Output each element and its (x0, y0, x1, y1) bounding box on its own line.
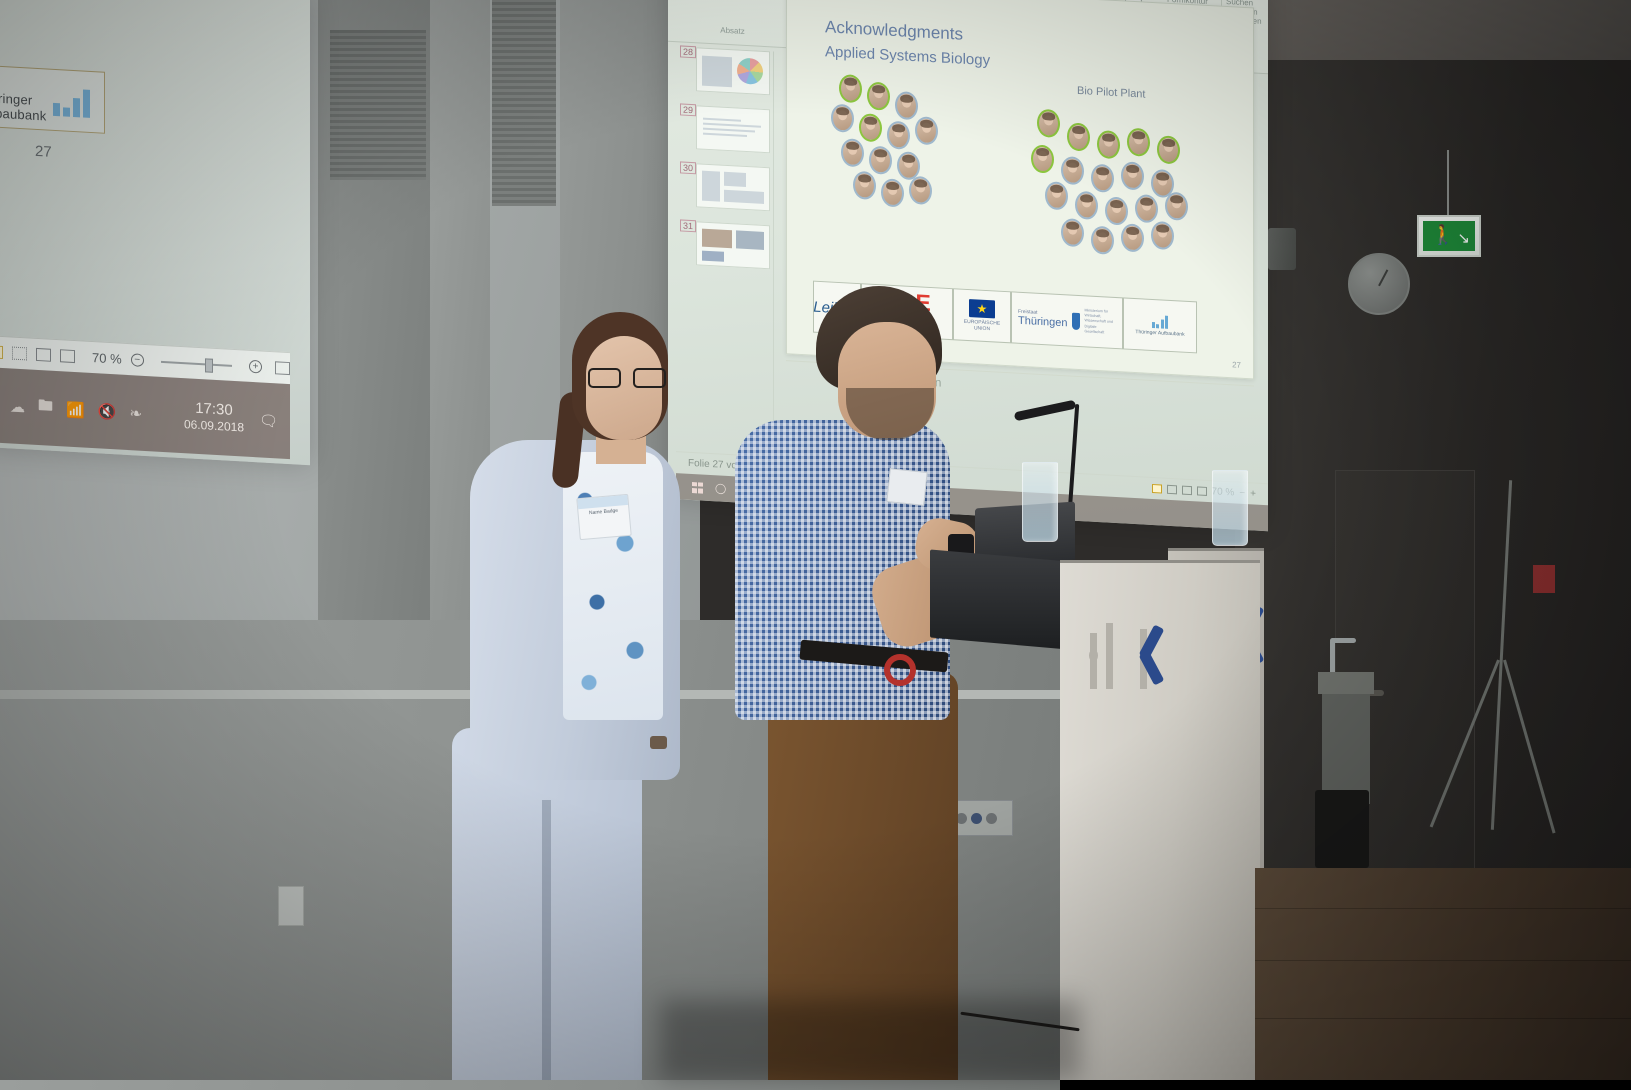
ceiling-vent-grille (330, 30, 426, 180)
slide-title: Acknowledgments (825, 17, 963, 44)
thumb-logo (702, 251, 724, 262)
reading-view-icon[interactable] (36, 348, 51, 362)
floor-plank-line (1255, 908, 1631, 909)
sink-basin (1322, 694, 1370, 804)
team-photo (1061, 218, 1084, 247)
socket-icon (971, 813, 982, 824)
thumbnail-number: 31 (680, 219, 696, 232)
left-projection-screen: Thüringer Aufbaubank 27 70 % − + ^ ☁ 🖿 📶… (0, 0, 310, 465)
tab-logo-text: Thüringer Aufbaubank (0, 89, 104, 126)
team-photo (1091, 164, 1114, 193)
team-photo (1151, 221, 1174, 250)
emergency-exit-sign: 🚶 ↘ (1417, 215, 1481, 257)
team-photo (853, 171, 876, 200)
thumbnail-number: 28 (680, 45, 696, 58)
team-photo (867, 82, 890, 111)
logo-dot (1089, 649, 1098, 662)
water-glass-left (1022, 462, 1058, 542)
faucet-body (1330, 640, 1335, 674)
logo-european-union: EUROPÄISCHE UNION (953, 288, 1011, 343)
search-icon[interactable]: ◯ (715, 483, 726, 495)
zoom-in-button[interactable]: + (1250, 488, 1256, 499)
wall-vent-grille (492, 0, 556, 206)
slide-sorter-icon[interactable] (12, 347, 27, 361)
slide-thumbnail[interactable]: 29 (696, 105, 770, 153)
normal-view-icon[interactable] (1152, 484, 1162, 494)
fire-extinguisher-sign (1533, 565, 1555, 593)
slide-thumbnail[interactable]: 28 (696, 47, 770, 95)
thumb-pie-chart-icon (737, 57, 763, 84)
woman-wristwatch (650, 736, 667, 749)
faces-cluster-applied-systems-biology (831, 74, 1011, 274)
thumb-image-placeholder (702, 56, 732, 88)
team-photo (895, 91, 918, 120)
faces-cluster-bio-pilot-plant (1027, 100, 1227, 301)
thumb-diagram-box (724, 190, 764, 204)
exit-sign-green-face: 🚶 ↘ (1423, 221, 1475, 251)
clock-date: 06.09.2018 (184, 418, 244, 436)
team-photo (831, 104, 854, 133)
exit-arrow-icon: ↘ (1457, 229, 1470, 247)
laptop-keyboard-base[interactable] (930, 549, 1080, 650)
thumb-photo (702, 229, 732, 249)
team-photo (869, 146, 892, 175)
man-belt-buckle (884, 654, 916, 686)
floor-plank-line (1255, 1018, 1631, 1019)
slide-sorter-icon[interactable] (1167, 485, 1177, 495)
tab-logo-box: Thüringer Aufbaubank (0, 64, 105, 134)
logo-freistaat-thueringen: Freistaat Thüringen Ministerium für Wirt… (1011, 291, 1123, 349)
wall-clock (1348, 253, 1410, 315)
slideshow-icon[interactable] (1197, 486, 1207, 496)
woman-eyeglasses (588, 368, 666, 388)
floor-plank-line (1255, 960, 1631, 961)
slide-thumbnail[interactable]: 31 (696, 221, 770, 269)
normal-view-icon[interactable] (0, 345, 3, 359)
zoom-slider[interactable] (161, 360, 232, 366)
team-photo (1075, 191, 1098, 220)
team-photo (915, 116, 938, 145)
slide-subtitle: Applied Systems Biology (825, 43, 990, 69)
conference-room-scene: Thüringer Aufbaubank 27 70 % − + ^ ☁ 🖿 📶… (0, 0, 1631, 1080)
thuringia-coat-of-arms-icon (1072, 312, 1081, 329)
lectern (1060, 560, 1260, 1080)
volume-muted-icon[interactable]: 🔇 (98, 402, 117, 421)
wifi-icon[interactable]: 📶 (66, 400, 85, 419)
left-slide-page-number: 27 (35, 143, 52, 161)
ribbon-group-label: Absatz (674, 23, 791, 38)
slide-thumbnail[interactable]: 30 (696, 163, 770, 211)
hki-logo (1090, 619, 1176, 689)
floor-shadow (660, 1000, 1080, 1080)
team-photo (1127, 128, 1150, 157)
team-photo (881, 178, 904, 207)
team-photo (1091, 226, 1114, 255)
bio-pilot-plant-caption: Bio Pilot Plant (1077, 85, 1145, 101)
thumb-photo (736, 230, 764, 250)
trash-bin (1315, 790, 1369, 868)
eu-caption: EUROPÄISCHE UNION (960, 319, 1004, 333)
team-photo (841, 138, 864, 167)
woman-face (586, 336, 662, 440)
thumb-diagram-box (724, 172, 746, 187)
slide-thumbnail-pane[interactable]: 28 29 30 31 (676, 46, 774, 444)
team-photo (1157, 135, 1180, 164)
team-photo (887, 121, 910, 150)
team-photo (1037, 109, 1060, 138)
badge-name: Name Badge (589, 508, 619, 517)
team-photo (1135, 194, 1158, 223)
team-photo (1045, 181, 1068, 210)
aufbaubank-wordmark: Thüringer Aufbaubank (1135, 329, 1184, 338)
bluetooth-icon[interactable]: ❧ (129, 404, 142, 423)
team-photo (909, 176, 932, 205)
team-photo (1097, 130, 1120, 159)
running-man-icon: 🚶 (1431, 226, 1455, 245)
slide-page-number: 27 (1232, 360, 1241, 369)
logo-bar (1106, 623, 1113, 689)
man-name-badge (886, 468, 927, 506)
team-photo (1105, 196, 1128, 225)
team-photo (1031, 144, 1054, 173)
thumbnail-number: 29 (680, 103, 696, 116)
sink-counter (1318, 672, 1374, 694)
team-photo (1165, 192, 1188, 221)
thumb-diagram-box (702, 171, 720, 202)
team-photo (1067, 122, 1090, 151)
action-center-icon[interactable]: 🗨 (259, 411, 278, 430)
wooden-floor (1255, 868, 1631, 1080)
hki-k-glyph (1136, 625, 1170, 683)
fit-to-window-icon[interactable] (275, 361, 290, 375)
team-photo (859, 113, 882, 142)
ribbon-group-absatz: Absatz (674, 0, 792, 40)
aufbaubank-bars-icon (1152, 314, 1169, 329)
left-taskbar-clock[interactable]: 17:30 06.09.2018 (184, 399, 244, 436)
team-photo (1061, 156, 1084, 185)
socket-icon (986, 813, 997, 824)
network-folder-icon[interactable]: 🖿 (38, 395, 53, 421)
zoom-out-button[interactable]: − (131, 353, 144, 367)
light-switch[interactable] (278, 886, 304, 926)
eu-flag-icon (969, 299, 995, 318)
exit-sign-suspension-rod (1447, 150, 1449, 216)
team-photo (1121, 161, 1144, 190)
water-glass-right (1212, 470, 1248, 546)
woman-leg-gap (542, 800, 551, 1080)
thumbnail-number: 30 (680, 161, 696, 174)
logo-thueringer-aufbaubank: Thüringer Aufbaubank (1123, 297, 1197, 353)
thueringen-ministry-line: Ministerium für Wirtschaft, Wissenschaft… (1084, 308, 1116, 337)
onedrive-icon[interactable]: ☁ (10, 397, 25, 416)
team-photo (1121, 223, 1144, 252)
thueringen-wordmark: Thüringen (1018, 315, 1068, 330)
zoom-in-button[interactable]: + (249, 360, 262, 374)
wall-speaker (1268, 228, 1296, 270)
left-zoom-level: 70 % (92, 350, 122, 367)
woman-floral-blouse (563, 452, 663, 720)
thumb-text-lines (703, 115, 763, 141)
team-photo (839, 74, 862, 103)
woman-name-badge: Name Badge (576, 494, 631, 540)
slideshow-icon[interactable] (60, 349, 75, 363)
windows-start-icon[interactable] (692, 482, 703, 494)
reading-view-icon[interactable] (1182, 486, 1192, 496)
badge-header-bar (577, 495, 628, 509)
